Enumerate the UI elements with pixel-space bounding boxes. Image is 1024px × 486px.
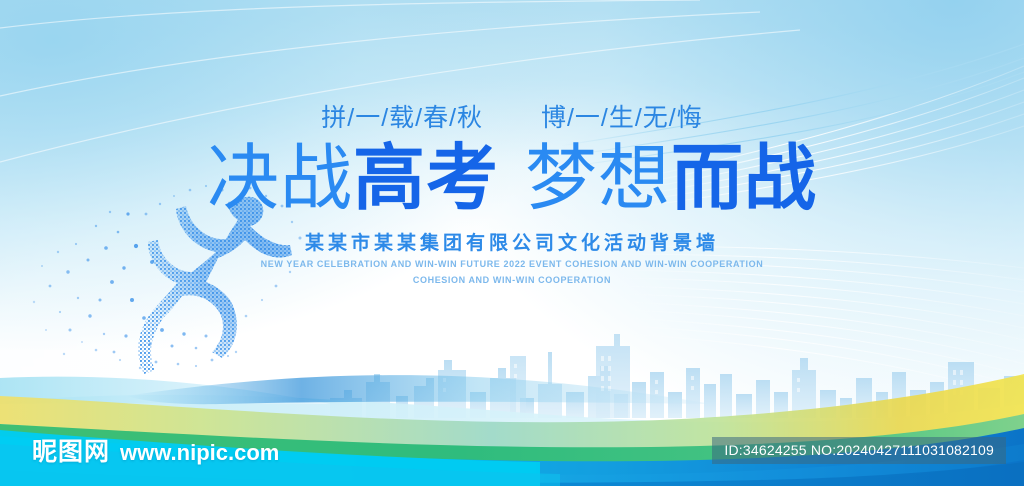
headline-part-2: 高考	[353, 139, 499, 219]
poster-canvas: 拼/一/载/春/秋 博/一/生/无/悔 决战高考梦想而战 某某市某某集团有限公司…	[0, 0, 1024, 486]
watermark-url: www.nipic.com	[120, 440, 279, 466]
headline: 决战高考梦想而战	[0, 143, 1024, 215]
watermark: 昵图网 www.nipic.com	[32, 432, 279, 468]
id-badge: ID:34624255 NO:20240427111031082109	[712, 437, 1006, 464]
headline-part-1: 决战	[207, 139, 353, 219]
watermark-brand: 昵图网	[32, 432, 110, 468]
subtitle: 某某市某某集团有限公司文化活动背景墙	[0, 228, 1024, 255]
tagline-left: 拼/一/载/春/秋	[321, 104, 483, 132]
tagline-row: 拼/一/载/春/秋 博/一/生/无/悔	[0, 98, 1024, 134]
english-line-2: COHESION AND WIN-WIN COOPERATION	[0, 275, 1024, 285]
headline-part-3: 梦想	[525, 139, 671, 219]
tagline-right: 博/一/生/无/悔	[541, 104, 703, 132]
english-line-1: NEW YEAR CELEBRATION AND WIN-WIN FUTURE …	[0, 259, 1024, 269]
headline-part-4: 而战	[671, 139, 817, 219]
